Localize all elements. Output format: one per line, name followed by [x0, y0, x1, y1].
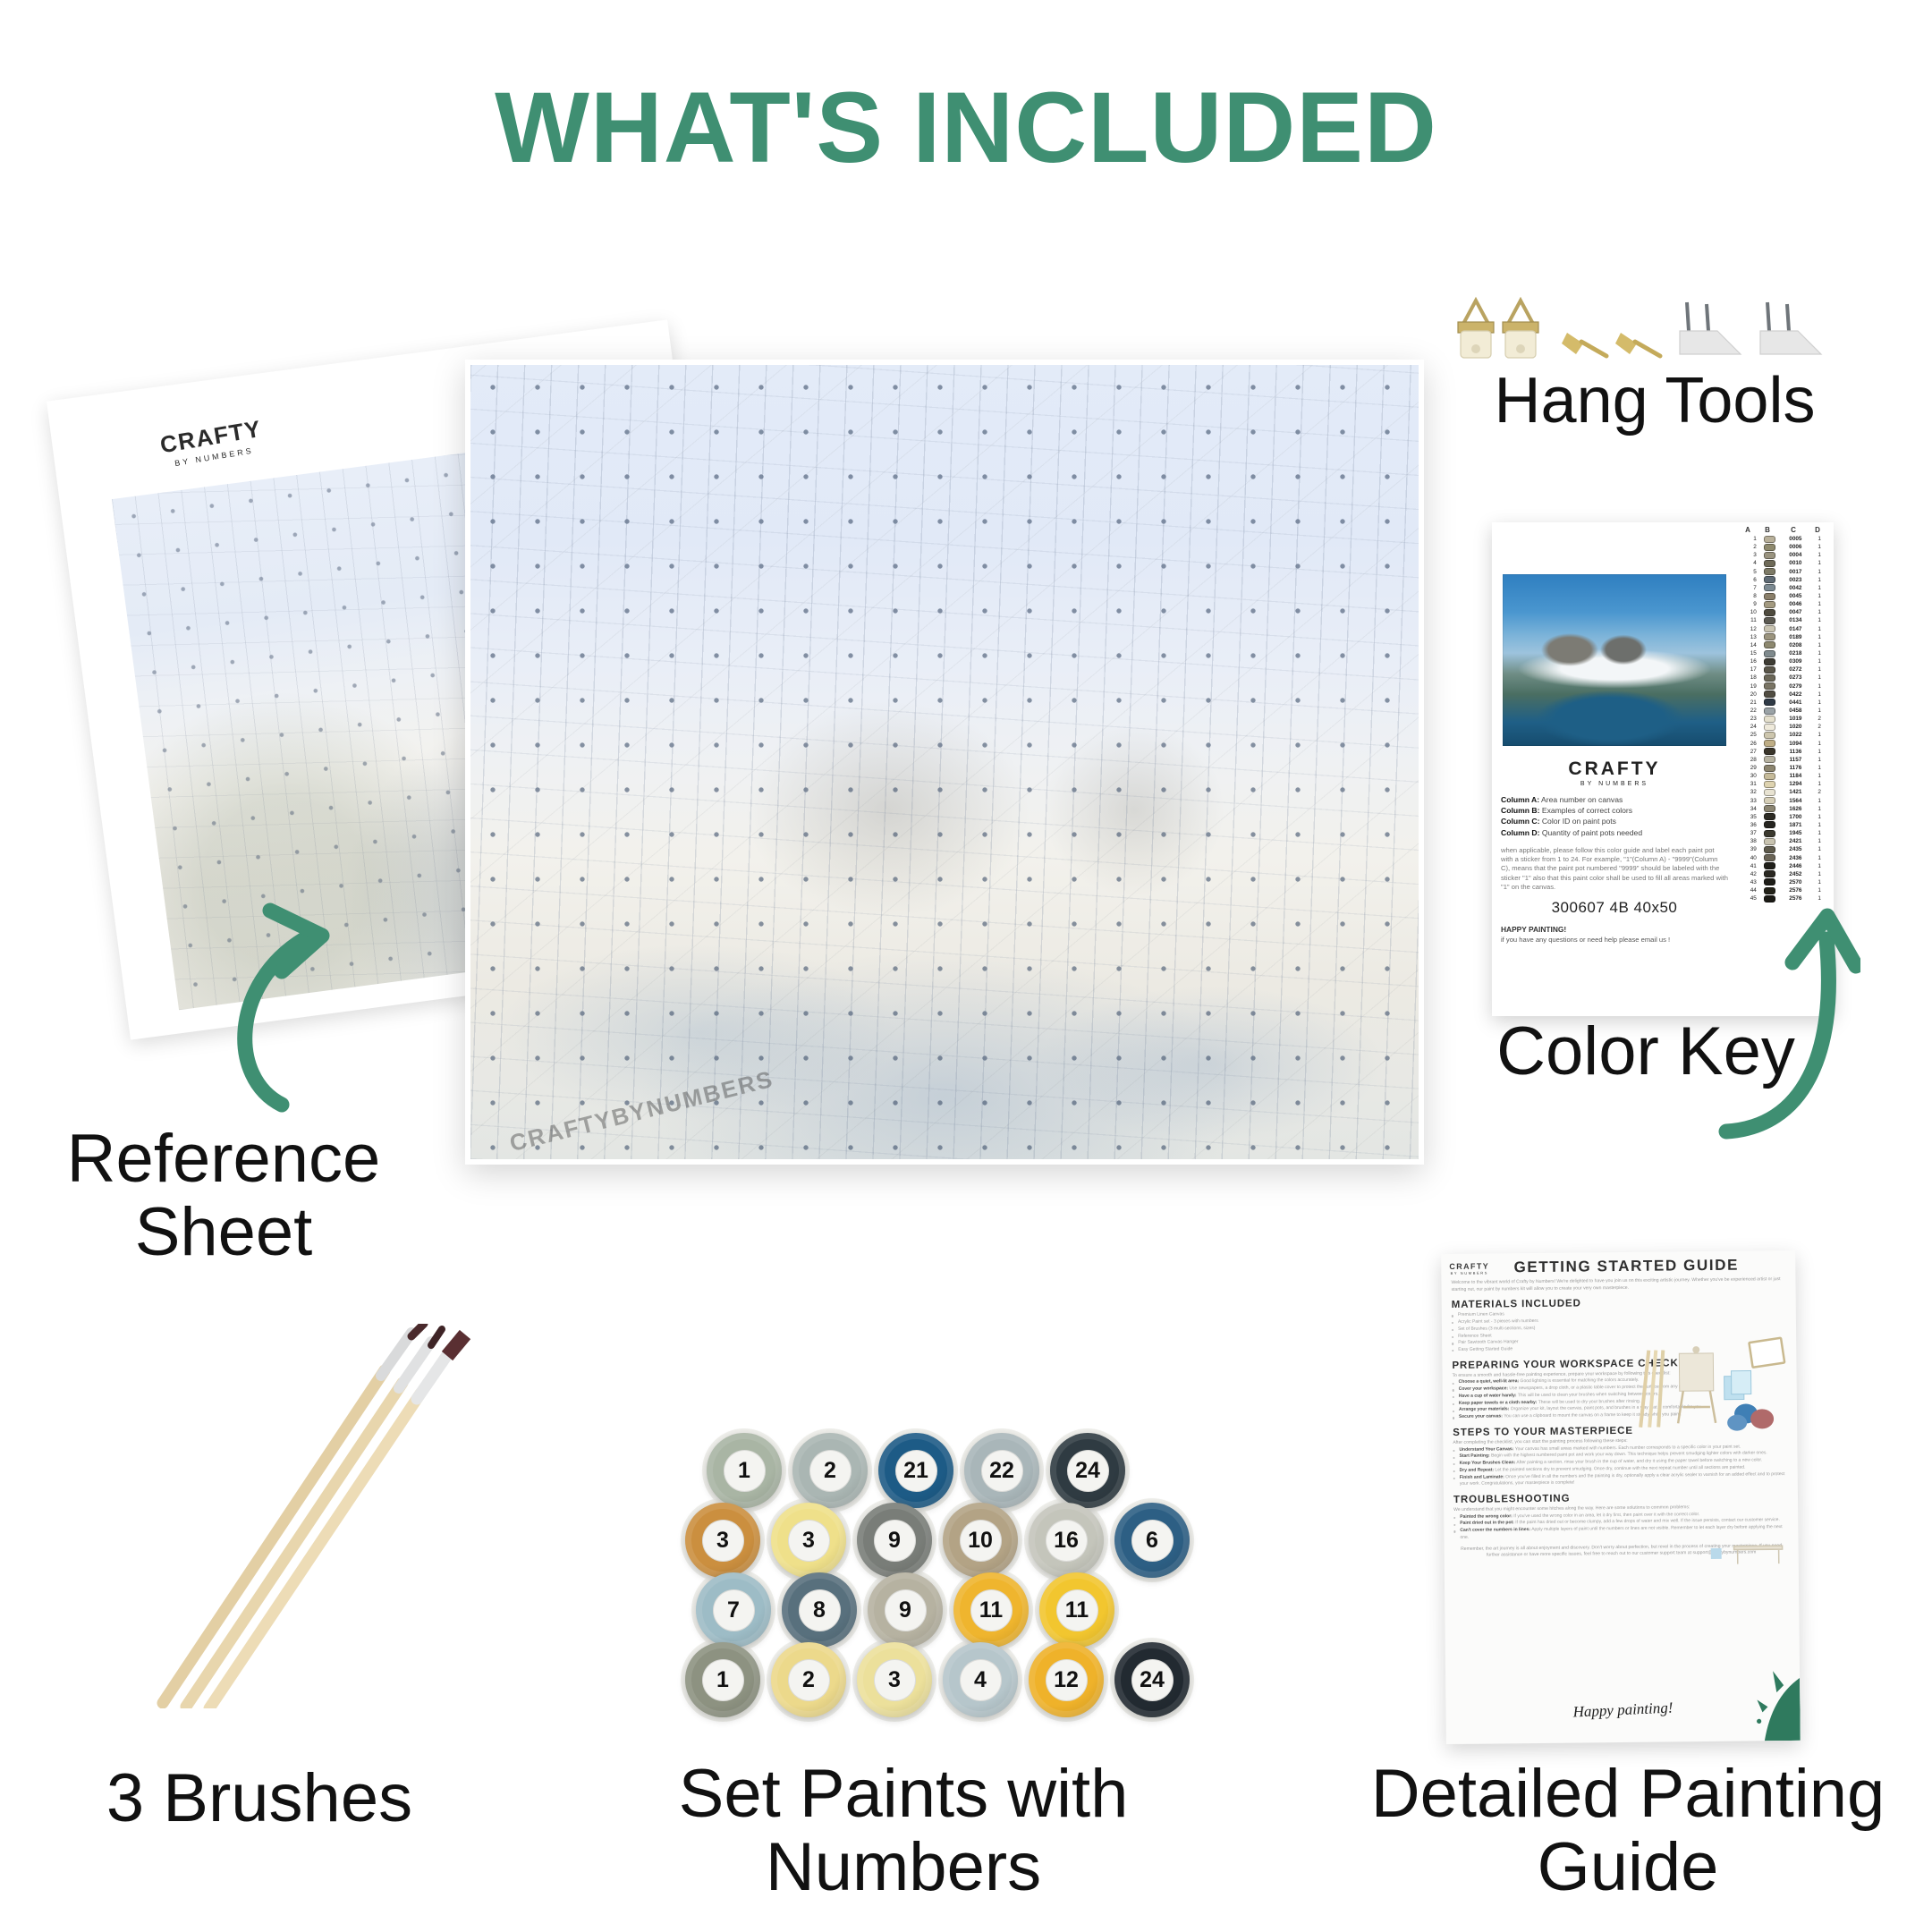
- paint-pot-number: 2: [809, 1450, 852, 1492]
- pot-quantity: 1: [1810, 798, 1828, 804]
- paint-pot-number: 3: [702, 1520, 744, 1562]
- color-swatch: [1764, 781, 1775, 788]
- pot-quantity: 1: [1810, 781, 1828, 787]
- area-number: 5: [1739, 569, 1759, 575]
- paint-pot-lid: 3: [685, 1503, 760, 1578]
- area-number: 9: [1739, 601, 1759, 607]
- area-number: 36: [1739, 822, 1759, 828]
- color-key-brand: CRAFTY BY NUMBERS: [1501, 758, 1728, 787]
- paint-pot-lid: 3: [857, 1642, 932, 1717]
- pot-quantity: 1: [1810, 855, 1828, 861]
- color-key-row: 2510221: [1739, 731, 1828, 739]
- color-key-row: 900461: [1739, 600, 1828, 608]
- color-key-row: 3719451: [1739, 829, 1828, 837]
- color-key-row: 2410202: [1739, 723, 1828, 731]
- color-id: 1136: [1781, 749, 1811, 755]
- color-swatch-cell: [1759, 838, 1781, 845]
- color-key-row: 1201471: [1739, 625, 1828, 633]
- paint-pot-lid: 1: [685, 1642, 760, 1717]
- color-key-row: 2610941: [1739, 740, 1828, 748]
- color-id: 1020: [1781, 724, 1811, 730]
- paint-pot: 3: [680, 1501, 766, 1580]
- color-key-caption: Color Key: [1395, 1015, 1896, 1089]
- color-id: 0023: [1781, 577, 1811, 583]
- color-id: 0017: [1781, 569, 1811, 575]
- color-key-row: 1603091: [1739, 657, 1828, 665]
- brand-name: CRAFTY: [1501, 758, 1728, 780]
- color-id: 0004: [1781, 552, 1811, 558]
- color-swatch: [1764, 682, 1775, 690]
- paint-pot-number: 4: [960, 1659, 1002, 1701]
- paint-pot-number: 3: [788, 1520, 830, 1562]
- color-swatch: [1764, 699, 1775, 706]
- pot-quantity: 1: [1810, 838, 1828, 844]
- guide-leaf-corner-decoration: [1717, 1658, 1801, 1741]
- color-id: 2436: [1781, 855, 1811, 861]
- area-number: 29: [1739, 765, 1759, 771]
- area-number: 37: [1739, 830, 1759, 836]
- color-swatch: [1764, 821, 1775, 828]
- brand-name: CRAFTY: [1449, 1261, 1489, 1270]
- area-number: 12: [1739, 626, 1759, 632]
- color-swatch-cell: [1759, 699, 1781, 706]
- pot-quantity: 1: [1810, 741, 1828, 747]
- area-number: 41: [1739, 863, 1759, 869]
- area-number: 32: [1739, 789, 1759, 795]
- color-swatch: [1764, 797, 1775, 804]
- area-number: 1: [1739, 536, 1759, 542]
- color-swatch: [1764, 617, 1775, 624]
- color-swatch-cell: [1759, 576, 1781, 583]
- color-swatch-cell: [1759, 666, 1781, 674]
- color-swatch: [1764, 732, 1775, 739]
- color-swatch: [1764, 830, 1775, 837]
- color-key-row: 1402081: [1739, 641, 1828, 649]
- pot-quantity: 1: [1810, 536, 1828, 542]
- color-swatch-cell: [1759, 633, 1781, 640]
- guide-section-heading: MATERIALS INCLUDED: [1452, 1296, 1786, 1310]
- paint-pot: 2: [766, 1640, 852, 1719]
- paint-pot-row: 33910166: [680, 1501, 1216, 1580]
- wall-hook-icon: [1680, 302, 1741, 354]
- pot-quantity: 1: [1810, 806, 1828, 812]
- color-swatch: [1764, 838, 1775, 845]
- wall-hook-icon: [1760, 302, 1821, 354]
- col-header-a: A: [1739, 526, 1757, 534]
- paint-pot-number: 6: [1131, 1520, 1174, 1562]
- paint-pot-lid: 2: [792, 1433, 868, 1508]
- pot-quantity: 1: [1810, 658, 1828, 665]
- color-key-row: 1000471: [1739, 608, 1828, 616]
- paint-pot: 7: [691, 1571, 776, 1649]
- column-c-label: Column C:: [1501, 817, 1539, 826]
- color-swatch: [1764, 716, 1775, 723]
- paint-pots-caption: Set Paints with Numbers: [581, 1758, 1225, 1904]
- paintbrush-icon: [186, 1329, 442, 1707]
- color-swatch-cell: [1759, 716, 1781, 723]
- pot-quantity: 1: [1810, 846, 1828, 852]
- color-swatch: [1764, 724, 1775, 731]
- color-swatch-cell: [1759, 601, 1781, 608]
- color-swatch-cell: [1759, 740, 1781, 747]
- pot-quantity: 1: [1810, 593, 1828, 599]
- paint-pot-number: 24: [1131, 1659, 1174, 1701]
- page-title: WHAT'S INCLUDED: [0, 70, 1932, 185]
- column-b-label: Column B:: [1501, 806, 1539, 815]
- guide-intro: Welcome to the vibrant world of Crafty b…: [1451, 1276, 1785, 1293]
- paint-pot-number: 9: [874, 1520, 916, 1562]
- color-swatch-cell: [1759, 748, 1781, 755]
- paint-pot: 9: [852, 1501, 937, 1580]
- color-key-row: 700421: [1739, 584, 1828, 592]
- area-number: 25: [1739, 732, 1759, 738]
- paint-pot-lid: 8: [782, 1572, 857, 1648]
- pot-quantity: 1: [1810, 863, 1828, 869]
- color-swatch: [1764, 789, 1775, 796]
- paint-pot-lid: 2: [771, 1642, 846, 1717]
- column-b-text: Examples of correct colors: [1539, 806, 1632, 815]
- pot-quantity: 1: [1810, 569, 1828, 575]
- paint-pot-number: 16: [1046, 1520, 1088, 1562]
- area-number: 6: [1739, 577, 1759, 583]
- color-swatch: [1764, 601, 1775, 608]
- color-swatch-cell: [1759, 609, 1781, 616]
- paint-pot: 16: [1023, 1501, 1109, 1580]
- color-id: 0047: [1781, 609, 1811, 615]
- color-id: 0005: [1781, 536, 1811, 542]
- paint-pot: 24: [1109, 1640, 1195, 1719]
- color-swatch-cell: [1759, 544, 1781, 551]
- color-swatch-cell: [1759, 641, 1781, 648]
- color-key-row: 1702721: [1739, 665, 1828, 674]
- color-id: 1294: [1781, 781, 1811, 787]
- color-swatch: [1764, 740, 1775, 747]
- paint-pot: 12: [1023, 1640, 1109, 1719]
- color-id: 0272: [1781, 666, 1811, 673]
- color-swatch: [1764, 846, 1775, 853]
- color-swatch: [1764, 756, 1775, 763]
- screw-icon: [1615, 333, 1660, 356]
- paint-pot-number: 3: [874, 1659, 916, 1701]
- color-swatch: [1764, 536, 1775, 543]
- color-swatch-cell: [1759, 732, 1781, 739]
- col-header-c: C: [1778, 526, 1809, 534]
- area-number: 14: [1739, 642, 1759, 648]
- pot-quantity: 1: [1810, 642, 1828, 648]
- color-key-row: 3824211: [1739, 837, 1828, 845]
- area-number: 31: [1739, 781, 1759, 787]
- color-key-row: 3618711: [1739, 821, 1828, 829]
- color-key-row: 1101341: [1739, 616, 1828, 624]
- color-swatch-cell: [1759, 765, 1781, 772]
- paint-pot-number: 7: [713, 1589, 755, 1631]
- paint-pot-number: 2: [788, 1659, 830, 1701]
- color-swatch-cell: [1759, 584, 1781, 591]
- paint-pot: 10: [937, 1501, 1023, 1580]
- color-swatch: [1764, 666, 1775, 674]
- paint-pot-lid: 24: [1050, 1433, 1125, 1508]
- color-id: 1626: [1781, 806, 1811, 812]
- color-id: 0147: [1781, 626, 1811, 632]
- color-swatch-cell: [1759, 789, 1781, 796]
- brushes-image: [116, 1324, 492, 1708]
- color-id: 0208: [1781, 642, 1811, 648]
- color-swatch-cell: [1759, 658, 1781, 665]
- color-key-row: 600231: [1739, 576, 1828, 584]
- pot-quantity: 1: [1810, 674, 1828, 681]
- color-id: 2435: [1781, 846, 1811, 852]
- column-a-text: Area number on canvas: [1539, 795, 1623, 804]
- color-swatch-cell: [1759, 536, 1781, 543]
- color-id: 0279: [1781, 683, 1811, 690]
- area-number: 40: [1739, 855, 1759, 861]
- color-swatch: [1764, 544, 1775, 551]
- color-key-reference-photo: [1503, 574, 1726, 746]
- guide-workspace-illustration: [1710, 1537, 1785, 1568]
- column-d-text: Quantity of paint pots needed: [1539, 828, 1642, 837]
- color-swatch: [1764, 862, 1775, 869]
- paint-pot-row: 7891111: [691, 1571, 1216, 1649]
- color-id: 1184: [1781, 773, 1811, 779]
- area-number: 18: [1739, 674, 1759, 681]
- color-swatch-cell: [1759, 552, 1781, 559]
- paint-pot: 21: [873, 1431, 959, 1510]
- paint-pot-number: 1: [724, 1450, 766, 1492]
- color-swatch: [1764, 568, 1775, 575]
- color-swatch-cell: [1759, 781, 1781, 788]
- infographic-stage: WHAT'S INCLUDED CRAFTY BY NUMBERS Refere…: [0, 0, 1932, 1932]
- color-swatch: [1764, 593, 1775, 600]
- area-number: 13: [1739, 634, 1759, 640]
- area-number: 34: [1739, 806, 1759, 812]
- paint-pot-number: 12: [1046, 1659, 1088, 1701]
- color-key-row: 4124461: [1739, 862, 1828, 870]
- paint-pot: 1: [680, 1640, 766, 1719]
- area-number: 17: [1739, 666, 1759, 673]
- reference-sheet-logo: CRAFTY BY NUMBERS: [158, 415, 266, 470]
- color-swatch-cell: [1759, 830, 1781, 837]
- area-number: 28: [1739, 757, 1759, 763]
- pot-quantity: 1: [1810, 634, 1828, 640]
- color-id: 0046: [1781, 601, 1811, 607]
- paintbrush-icon: [209, 1335, 465, 1708]
- pot-quantity: 1: [1810, 822, 1828, 828]
- color-key-row: 3315641: [1739, 797, 1828, 805]
- area-number: 24: [1739, 724, 1759, 730]
- paint-pot: 9: [862, 1571, 948, 1649]
- paint-pot-number: 21: [895, 1450, 937, 1492]
- sawtooth-hanger-icon: [1503, 301, 1538, 358]
- color-id: 1019: [1781, 716, 1811, 722]
- area-number: 39: [1739, 846, 1759, 852]
- color-key-row: 3416261: [1739, 805, 1828, 813]
- paint-pot-lid: 6: [1114, 1503, 1190, 1578]
- color-key-row: 2711361: [1739, 748, 1828, 756]
- color-id: 0010: [1781, 560, 1811, 566]
- color-swatch-cell: [1759, 674, 1781, 682]
- color-swatch: [1764, 773, 1775, 780]
- column-d-label: Column D:: [1501, 828, 1539, 837]
- pot-quantity: 1: [1810, 699, 1828, 706]
- pot-quantity: 1: [1810, 814, 1828, 820]
- guide-title: GETTING STARTED GUIDE: [1489, 1256, 1786, 1276]
- hang-tools-caption: Hang Tools: [1422, 367, 1887, 436]
- pot-quantity: 1: [1810, 732, 1828, 738]
- sawtooth-hanger-icon: [1458, 301, 1494, 358]
- color-id: 1022: [1781, 732, 1811, 738]
- color-key-row: 3924351: [1739, 845, 1828, 853]
- guide-logo: CRAFTY BY NUMBERS: [1449, 1261, 1489, 1275]
- paint-pot-lid: 7: [696, 1572, 771, 1648]
- color-swatch-cell: [1759, 568, 1781, 575]
- paint-pot-row: 12341224: [680, 1640, 1216, 1719]
- area-number: 15: [1739, 650, 1759, 657]
- color-id: 0006: [1781, 544, 1811, 550]
- color-swatch-cell: [1759, 708, 1781, 715]
- area-number: 3: [1739, 552, 1759, 558]
- pot-quantity: 1: [1810, 626, 1828, 632]
- pot-quantity: 1: [1810, 560, 1828, 566]
- color-swatch-cell: [1759, 797, 1781, 804]
- paint-pot-number: 1: [702, 1659, 744, 1701]
- pot-quantity: 1: [1810, 552, 1828, 558]
- color-swatch: [1764, 650, 1775, 657]
- pot-quantity: 2: [1810, 716, 1828, 722]
- color-swatch: [1764, 584, 1775, 591]
- paint-pot-lid: 9: [857, 1503, 932, 1578]
- pot-quantity: 1: [1810, 830, 1828, 836]
- paint-pot-empty: [1120, 1571, 1206, 1649]
- guide-materials-illustration: [1631, 1336, 1788, 1436]
- area-number: 16: [1739, 658, 1759, 665]
- color-key-row: 4024361: [1739, 853, 1828, 861]
- color-id: 1421: [1781, 789, 1811, 795]
- color-swatch: [1764, 813, 1775, 820]
- color-id: 1157: [1781, 757, 1811, 763]
- color-id: 0189: [1781, 634, 1811, 640]
- color-id: 0134: [1781, 617, 1811, 623]
- color-swatch-cell: [1759, 617, 1781, 624]
- color-id: 0441: [1781, 699, 1811, 706]
- easel-illustration: [1677, 1346, 1716, 1423]
- paintbrush-icon: [163, 1324, 424, 1703]
- color-swatch-cell: [1759, 625, 1781, 632]
- column-a-label: Column A:: [1501, 795, 1539, 804]
- color-id: 1871: [1781, 822, 1811, 828]
- brand-tagline: BY NUMBERS: [1501, 781, 1728, 787]
- hang-tools-image: [1449, 277, 1843, 376]
- col-header-b: B: [1757, 526, 1778, 534]
- color-swatch: [1764, 805, 1775, 812]
- color-swatch: [1764, 708, 1775, 715]
- paint-pot-lid: 11: [953, 1572, 1029, 1648]
- pot-quantity: 1: [1810, 617, 1828, 623]
- guide-section-heading: TROUBLESHOOTING: [1453, 1491, 1788, 1505]
- pot-quantity: 2: [1810, 789, 1828, 795]
- brushes-caption: 3 Brushes: [36, 1762, 483, 1835]
- guide-list-item: Finish and Laminate: Once you've filled …: [1453, 1471, 1788, 1488]
- color-id: 0309: [1781, 658, 1811, 665]
- paint-pot-lid: 10: [943, 1503, 1018, 1578]
- color-swatch: [1764, 748, 1775, 755]
- frame-illustration: [1749, 1338, 1784, 1368]
- color-key-row: 1502181: [1739, 649, 1828, 657]
- color-swatch-cell: [1759, 773, 1781, 780]
- color-key-column-legend: Column A: Area number on canvas Column B…: [1501, 794, 1728, 838]
- paint-pot: 11: [1034, 1571, 1120, 1649]
- paint-pot: 22: [959, 1431, 1045, 1510]
- paint-pot-lid: 11: [1039, 1572, 1114, 1648]
- color-swatch-cell: [1759, 682, 1781, 690]
- color-key-row: 800451: [1739, 592, 1828, 600]
- pot-quantity: 1: [1810, 683, 1828, 690]
- color-key-row: 100051: [1739, 535, 1828, 543]
- color-swatch: [1764, 576, 1775, 583]
- color-swatch: [1764, 625, 1775, 632]
- color-id: 1564: [1781, 798, 1811, 804]
- color-id: 1094: [1781, 741, 1811, 747]
- color-swatch-cell: [1759, 854, 1781, 861]
- color-key-row: 2911761: [1739, 764, 1828, 772]
- pot-quantity: 1: [1810, 708, 1828, 714]
- color-key-row: 3517001: [1739, 813, 1828, 821]
- color-key-row: 1802731: [1739, 674, 1828, 682]
- pot-quantity: 1: [1810, 544, 1828, 550]
- col-header-d: D: [1809, 526, 1826, 534]
- color-swatch-cell: [1759, 691, 1781, 698]
- pot-quantity: 1: [1810, 577, 1828, 583]
- area-number: 33: [1739, 798, 1759, 804]
- guide-header: CRAFTY BY NUMBERS GETTING STARTED GUIDE: [1441, 1250, 1795, 1277]
- paint-pot: 3: [766, 1501, 852, 1580]
- paint-pot-row: 12212224: [701, 1431, 1216, 1510]
- canvas-number-outlines: [470, 365, 1419, 1159]
- paint-pot: 1: [701, 1431, 787, 1510]
- paint-pot-number: 9: [885, 1589, 927, 1631]
- color-swatch: [1764, 765, 1775, 772]
- color-swatch-cell: [1759, 560, 1781, 567]
- color-swatch: [1764, 609, 1775, 616]
- area-number: 2: [1739, 544, 1759, 550]
- brand-tagline: BY NUMBERS: [1449, 1270, 1489, 1275]
- area-number: 23: [1739, 716, 1759, 722]
- paint-pot-lid: 12: [1029, 1642, 1104, 1717]
- arrow-to-color-key: [1601, 877, 1860, 1145]
- color-swatch-cell: [1759, 593, 1781, 600]
- screw-icon: [1562, 333, 1606, 356]
- paint-pot-number: 11: [1056, 1589, 1098, 1631]
- paint-pot: 24: [1045, 1431, 1131, 1510]
- paint-pot: 4: [937, 1640, 1023, 1719]
- paint-pot-lid: 1: [707, 1433, 782, 1508]
- paint-pot-lid: 21: [878, 1433, 953, 1508]
- color-key-row: 2310192: [1739, 715, 1828, 723]
- pot-quantity: 1: [1810, 609, 1828, 615]
- pot-quantity: 1: [1810, 650, 1828, 657]
- color-swatch-cell: [1759, 813, 1781, 820]
- color-swatch-cell: [1759, 650, 1781, 657]
- pot-quantity: 1: [1810, 666, 1828, 673]
- area-number: 21: [1739, 699, 1759, 706]
- color-swatch: [1764, 691, 1775, 698]
- area-number: 26: [1739, 741, 1759, 747]
- color-swatch: [1764, 658, 1775, 665]
- color-id: 0273: [1781, 674, 1811, 681]
- color-key-row: 2104411: [1739, 699, 1828, 707]
- guide-caption: Detailed Painting Guide: [1324, 1758, 1932, 1904]
- color-id: 0218: [1781, 650, 1811, 657]
- paint-pot-lid: 4: [943, 1642, 1018, 1717]
